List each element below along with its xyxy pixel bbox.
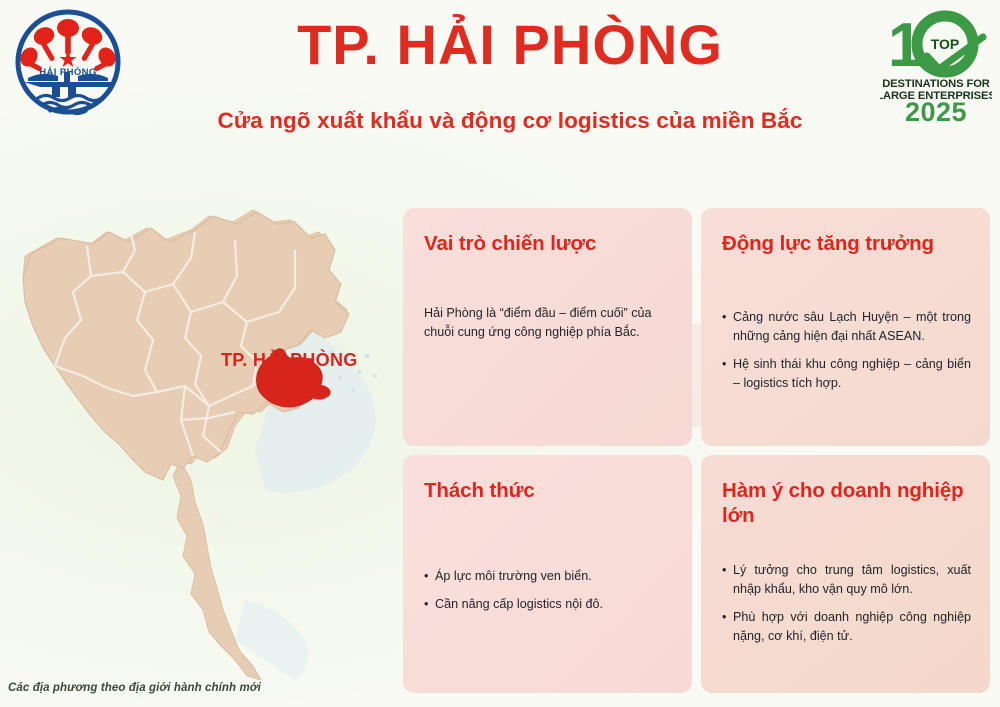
poster-header: HẢI PHÒNG TP. HẢI PHÒNG Cửa ngõ xuất khẩ… — [0, 0, 1000, 150]
hai-phong-emblem-logo: HẢI PHÒNG — [12, 6, 124, 118]
top-10-destinations-badge: 1 TOP DESTINATIONS FOR LARGE ENTERPRISES… — [880, 4, 992, 122]
card-title: Vai trò chiến lược — [424, 232, 671, 257]
content-cards-grid: Vai trò chiến lược Hải Phòng là “điểm đầ… — [403, 208, 990, 688]
list-item: Cần nâng cấp logistics nội đô. — [424, 595, 673, 614]
card-title: Động lực tăng trưởng — [722, 232, 969, 257]
card-thach-thuc: Thách thức Áp lực môi trường ven biển. C… — [403, 455, 692, 693]
card-vai-tro-chien-luoc: Vai trò chiến lược Hải Phòng là “điểm đầ… — [403, 208, 692, 446]
card-bullet-list: Lý tưởng cho trung tâm logistics, xuất n… — [722, 561, 971, 647]
card-bullet-list: Cảng nước sâu Lạch Huyện – một trong nhữ… — [722, 308, 971, 394]
card-title: Hàm ý cho doanh nghiệp lớn — [722, 479, 969, 528]
card-dong-luc-tang-truong: Động lực tăng trưởng Cảng nước sâu Lạch … — [701, 208, 990, 446]
card-ham-y-cho-doanh-nghiep-lon: Hàm ý cho doanh nghiệp lớn Lý tưởng cho … — [701, 455, 990, 693]
card-body: Cảng nước sâu Lạch Huyện – một trong nhữ… — [722, 308, 971, 394]
list-item: Phù hợp với doanh nghiệp công nghiệp nặn… — [722, 608, 971, 646]
page-subtitle: Cửa ngõ xuất khẩu và động cơ logistics c… — [140, 108, 880, 134]
card-body: Áp lực môi trường ven biển. Cần nâng cấp… — [424, 567, 673, 614]
list-item: Cảng nước sâu Lạch Huyện – một trong nhữ… — [722, 308, 971, 346]
card-paragraph: Hải Phòng là “điểm đầu – điểm cuối” của … — [424, 304, 673, 342]
page-title: TP. HẢI PHÒNG — [140, 16, 880, 75]
list-item: Hệ sinh thái khu công nghiệp – cảng biển… — [722, 355, 971, 393]
card-body: Hải Phòng là “điểm đầu – điểm cuối” của … — [424, 304, 673, 342]
northern-vietnam-map — [0, 180, 405, 680]
svg-text:DESTINATIONS FOR: DESTINATIONS FOR — [882, 78, 990, 90]
svg-text:TOP: TOP — [931, 36, 960, 52]
card-body: Lý tưởng cho trung tâm logistics, xuất n… — [722, 561, 971, 647]
list-item: Lý tưởng cho trung tâm logistics, xuất n… — [722, 561, 971, 599]
map-region-label: TP. HẢI PHÒNG — [221, 350, 358, 371]
card-bullet-list: Áp lực môi trường ven biển. Cần nâng cấp… — [424, 567, 673, 614]
svg-text:2025: 2025 — [905, 97, 967, 122]
map-footnote: Các địa phương theo địa giới hành chính … — [8, 682, 261, 694]
infographic-poster: VNR VIETNAM REPORT — [0, 0, 1000, 707]
list-item: Áp lực môi trường ven biển. — [424, 567, 673, 586]
card-title: Thách thức — [424, 479, 671, 504]
